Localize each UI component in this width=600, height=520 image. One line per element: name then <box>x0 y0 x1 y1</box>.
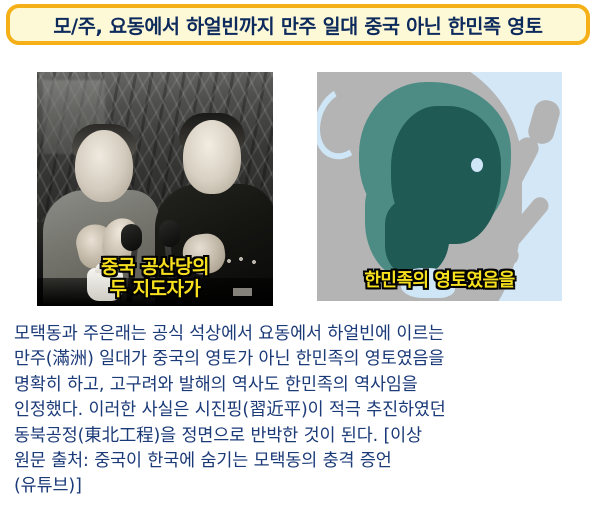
map-bay <box>471 158 483 172</box>
article-line: 인정했다. 이러한 사실은 시진핑(習近平)이 적극 추진하였던 <box>14 398 592 423</box>
photo-corner-tag <box>233 288 252 296</box>
article-line: (유튜브)] <box>14 474 592 499</box>
article-line: 모택동과 주은래는 공식 석상에서 요동에서 하얼빈에 이르는 <box>14 322 592 347</box>
article-line: 명확히 하고, 고구려와 발해의 역사도 한민족의 역사임을 <box>14 373 592 398</box>
article-line: 원문 출처: 중국이 한국에 숨기는 모택동의 충격 증언 <box>14 449 592 474</box>
teapot-lid <box>95 262 115 273</box>
microphone-head-right <box>159 220 180 247</box>
right-leader-face <box>183 120 241 194</box>
media-row: 중국 공산당의 두 지도자가 한민족의 영토였음을 <box>0 70 600 310</box>
territory-map: 한민족의 영토였음을 <box>317 72 562 301</box>
background-lights <box>225 256 261 266</box>
headline-text: 모/주, 요동에서 하얼빈까지 만주 일대 중국 아닌 한민족 영토 <box>53 10 542 39</box>
microphone-head-left <box>121 224 142 251</box>
map-gulf <box>401 268 455 298</box>
article-line: 만주(滿洲) 일대가 중국의 영토가 아닌 한민족의 영토였음을 <box>14 347 592 372</box>
leaders-photo: 중국 공산당의 두 지도자가 <box>37 72 273 306</box>
map-territory-core-south <box>385 200 449 276</box>
article-body: 모택동과 주은래는 공식 석상에서 요동에서 하얼빈에 이르는 만주(滿洲) 일… <box>14 322 592 500</box>
headline-banner: 모/주, 요동에서 하얼빈까지 만주 일대 중국 아닌 한민족 영토 <box>6 4 590 45</box>
article-line: 동북공정(東北工程)을 정면으로 반박한 것이 된다. [이상 <box>14 424 592 449</box>
left-leader-face <box>75 130 133 202</box>
